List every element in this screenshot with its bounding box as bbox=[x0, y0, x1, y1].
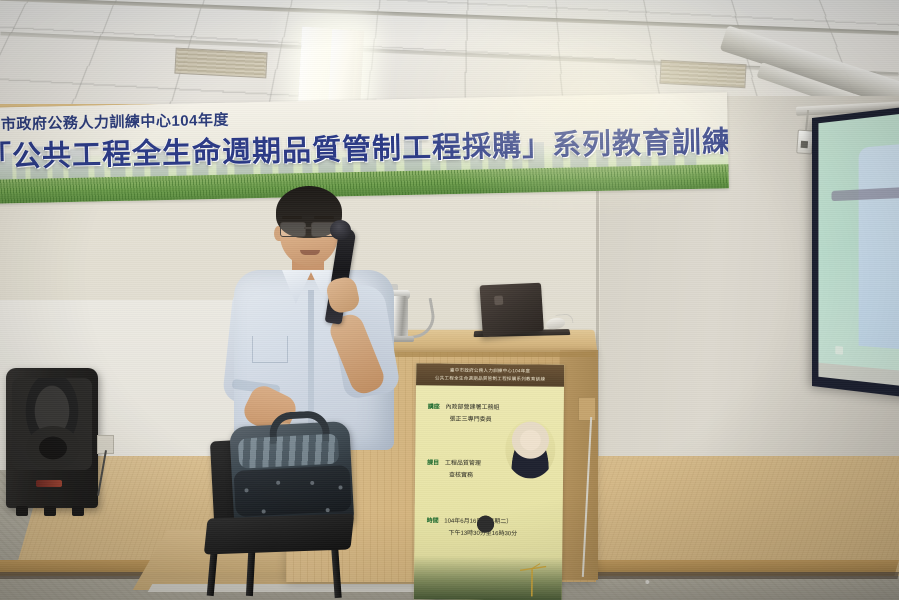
speaker-foot bbox=[44, 506, 56, 516]
poster-header-band: 臺中市政府公務人力訓練中心104年度 公共工程全生命週期品質管制工程採購系列教育… bbox=[416, 363, 564, 387]
poster-illustration-figure bbox=[470, 514, 500, 548]
eyeglass-lens-left bbox=[280, 222, 306, 237]
slide-marker bbox=[835, 346, 843, 355]
mouth bbox=[300, 250, 320, 255]
poster-header-line1: 臺中市政府公務人力訓練中心104年度 bbox=[416, 367, 564, 375]
poster-row-topic: 課目 工程品質管理 bbox=[427, 459, 481, 469]
backpack-stripe-pattern bbox=[238, 434, 339, 469]
ceiling-vent bbox=[174, 48, 267, 79]
laptop-logo bbox=[494, 296, 503, 306]
wall-junction-box bbox=[578, 397, 596, 421]
poster-row-value: 工程品質管理 bbox=[445, 461, 481, 467]
projection-screen bbox=[812, 104, 899, 401]
eyebrow-left bbox=[282, 216, 302, 219]
lectern-side-panel bbox=[560, 350, 598, 580]
slide-footer bbox=[818, 363, 899, 390]
event-poster: 臺中市政府公務人力訓練中心104年度 公共工程全生命週期品質管制工程採購系列教育… bbox=[414, 363, 564, 600]
poster-portrait-photo bbox=[505, 420, 556, 479]
slide-content-panel bbox=[859, 136, 899, 356]
remote-button bbox=[801, 141, 808, 148]
backpack-flap bbox=[234, 465, 352, 517]
speaker-foot bbox=[16, 506, 28, 516]
poster-row-label: 講座 bbox=[428, 404, 440, 410]
pa-loudspeaker bbox=[6, 368, 98, 508]
eyebrow-right bbox=[314, 216, 334, 219]
laptop-computer[interactable] bbox=[480, 283, 544, 338]
shirt-pocket bbox=[252, 336, 288, 363]
speaker-brand-logo bbox=[36, 480, 62, 487]
poster-header-line2: 公共工程全生命週期品質管制工程採購系列教育訓練 bbox=[416, 375, 564, 383]
poster-row-label: 課目 bbox=[427, 460, 439, 466]
poster-row-value: 內政部營建署工務組 bbox=[445, 405, 499, 412]
speaker-woofer bbox=[26, 426, 80, 470]
poster-row-label: 時間 bbox=[427, 518, 439, 524]
projection-screen-surface bbox=[818, 110, 899, 389]
speaker-foot bbox=[72, 506, 84, 516]
poster-crane-graphic bbox=[518, 562, 548, 596]
poster-row-speaker-cont: 張正三專門委員 bbox=[450, 416, 492, 426]
poster-row-topic-cont: 查核實務 bbox=[449, 472, 473, 482]
poster-row-speaker: 講座 內政部營建署工務組 bbox=[428, 403, 500, 414]
folding-chair-seat bbox=[204, 513, 354, 554]
ceiling-vent bbox=[659, 60, 746, 88]
lecture-photograph: 中市政府公務人力訓練中心104年度 「公共工程全生命週期品質管制工程採購」系列教… bbox=[0, 0, 899, 600]
